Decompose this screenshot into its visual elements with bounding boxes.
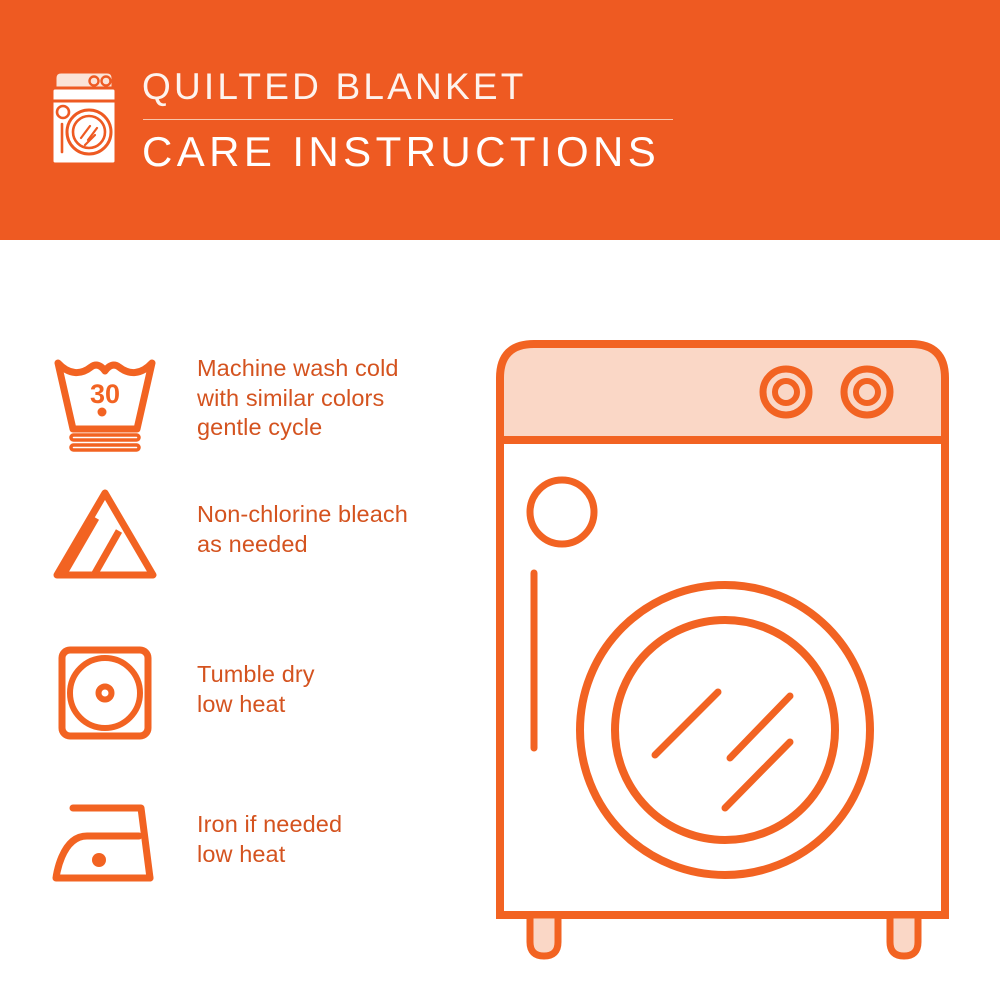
- front-load-washing-machine-illustration: [490, 330, 960, 940]
- page-title-primary: QUILTED BLANKET: [142, 64, 742, 110]
- iron-low-heat-icon: [45, 788, 165, 898]
- non-chlorine-bleach-triangle-icon: [45, 480, 165, 590]
- wash-temperature-label: 30: [90, 379, 120, 409]
- care-instruction-list: 30 Machine wash cold with similar colors…: [0, 240, 500, 1000]
- machine-wash-tub-icon: 30: [45, 348, 165, 458]
- header-title-group: QUILTED BLANKET CARE INSTRUCTIONS: [142, 64, 742, 178]
- care-row-iron: Iron if needed low heat: [0, 788, 500, 898]
- care-text-tumble-dry: Tumble dry low heat: [197, 638, 315, 719]
- header-banner: QUILTED BLANKET CARE INSTRUCTIONS: [0, 0, 1000, 240]
- washing-machine-icon: [45, 66, 127, 176]
- care-text-bleach: Non-chlorine bleach as needed: [197, 480, 408, 559]
- page-title-secondary: CARE INSTRUCTIONS: [142, 126, 742, 178]
- tumble-dry-low-heat-icon: [45, 638, 165, 748]
- care-text-machine-wash: Machine wash cold with similar colors ge…: [197, 348, 399, 443]
- care-text-iron: Iron if needed low heat: [197, 788, 342, 869]
- care-instructions-page: QUILTED BLANKET CARE INSTRUCTIONS 30: [0, 0, 1000, 1000]
- care-row-bleach: Non-chlorine bleach as needed: [0, 480, 500, 590]
- title-divider: [143, 119, 673, 120]
- care-row-machine-wash: 30 Machine wash cold with similar colors…: [0, 348, 500, 458]
- care-row-tumble-dry: Tumble dry low heat: [0, 638, 500, 748]
